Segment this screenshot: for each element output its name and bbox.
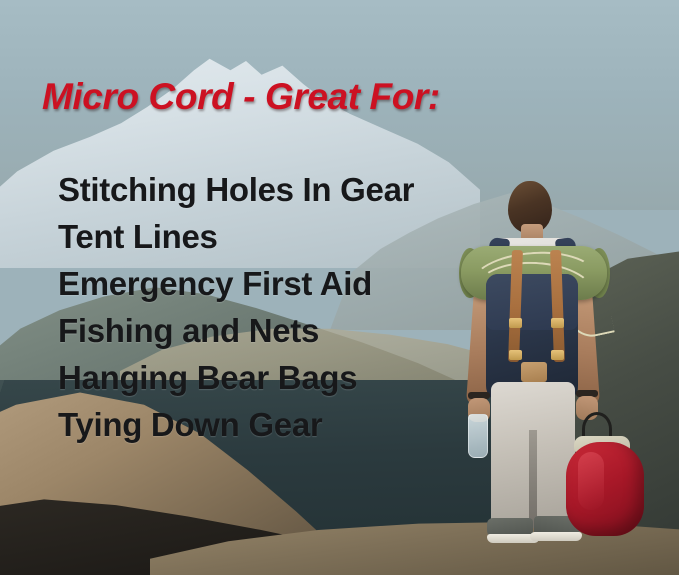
use-list-item: Tent Lines [58,213,414,260]
water-bottle [468,414,488,458]
buckle [509,350,522,360]
leg-separation-shadow [529,430,537,528]
use-list-item: Fishing and Nets [58,307,414,354]
use-list-item: Emergency First Aid [58,260,414,307]
use-list-item: Tying Down Gear [58,401,414,448]
use-list: Stitching Holes In Gear Tent Lines Emerg… [58,166,414,448]
headline: Micro Cord - Great For: [42,76,440,118]
use-list-item: Hanging Bear Bags [58,354,414,401]
micro-cord-promo-poster: Micro Cord - Great For: Stitching Holes … [0,0,679,575]
buckle [509,318,522,328]
buckle [551,318,564,328]
use-list-item: Stitching Holes In Gear [58,166,414,213]
backpack-leather-patch [521,362,547,382]
backpack-flap [486,274,578,330]
sneaker-right-sole [530,532,582,541]
stuff-sack-highlight [578,452,604,510]
buckle [551,350,564,360]
